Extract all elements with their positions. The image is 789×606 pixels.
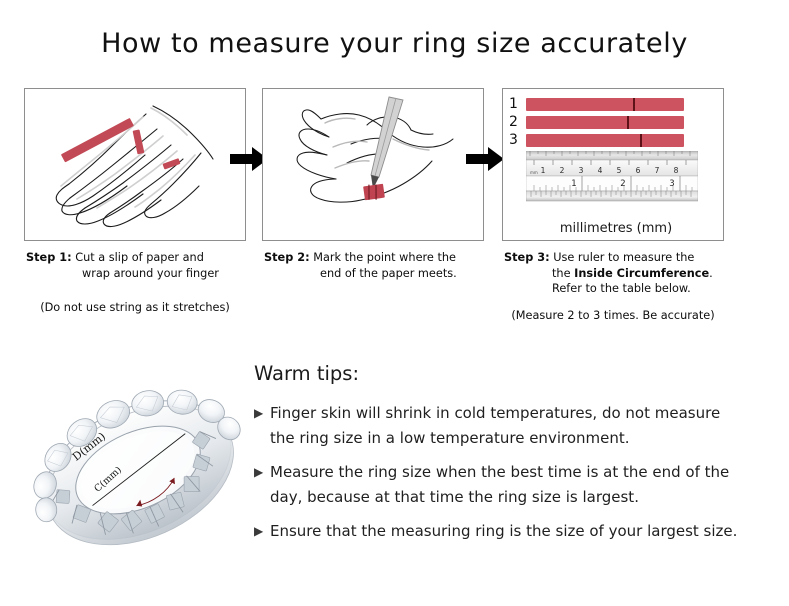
svg-text:6: 6 <box>636 166 641 175</box>
hand-marking-with-pencil-illustration <box>263 89 484 241</box>
step-1-column: Step 1: Cut a slip of paper and wrap aro… <box>24 88 246 315</box>
paper-strip-1 <box>526 98 684 111</box>
step-3-caption: Step 3: Use ruler to measure the the Ins… <box>502 250 724 297</box>
diamond-ring-illustration <box>26 356 251 584</box>
strip-number-3: 3 <box>509 133 526 147</box>
warm-tips-section: Warm tips: ▶ Finger skin will shrink in … <box>254 362 774 553</box>
tip-text: Measure the ring size when the best time… <box>270 460 740 510</box>
svg-text:3: 3 <box>669 179 674 189</box>
step-3-note: (Measure 2 to 3 times. Be accurate) <box>502 308 724 323</box>
svg-text:4: 4 <box>598 166 603 175</box>
tip-item: ▶ Measure the ring size when the best ti… <box>254 460 774 510</box>
strip-number-2: 2 <box>509 115 526 129</box>
strip-mark-3 <box>640 134 642 147</box>
step-1-label: Step 1: <box>26 251 72 264</box>
ruler: 123 456 78 mm 123 <box>526 151 713 211</box>
ruler-unit-label: millimetres (mm) <box>519 221 713 236</box>
step-3-caption-line2-tail: . <box>709 267 713 280</box>
measurement-strip-row: 3 <box>509 133 713 147</box>
step-3-panel: 1 2 3 <box>502 88 724 241</box>
red-paper-strip-on-finger <box>363 184 385 201</box>
bullet-triangle-icon: ▶ <box>254 460 270 485</box>
ruler-graphic: 123 456 78 mm 123 <box>526 151 698 207</box>
bullet-triangle-icon: ▶ <box>254 519 270 544</box>
step-1-caption-line2: wrap around your finger <box>24 266 246 282</box>
step-2-caption-line1: Mark the point where the <box>313 251 456 264</box>
svg-text:1: 1 <box>541 166 546 175</box>
step-1-note: (Do not use string as it stretches) <box>24 300 246 315</box>
step-3-caption-line2: the <box>552 267 574 280</box>
paper-strip-3 <box>526 134 684 147</box>
svg-text:3: 3 <box>579 166 584 175</box>
paper-strip-2 <box>526 116 684 129</box>
step-2-panel <box>262 88 484 241</box>
svg-text:2: 2 <box>560 166 565 175</box>
steps-row: Step 1: Cut a slip of paper and wrap aro… <box>0 88 789 338</box>
step-3-caption-line1: Use ruler to measure the <box>553 251 694 264</box>
step-1-panel <box>24 88 246 241</box>
tip-text: Ensure that the measuring ring is the si… <box>270 519 737 544</box>
step-1-caption-line1: Cut a slip of paper and <box>75 251 204 264</box>
measurement-strip-row: 2 <box>509 115 713 129</box>
flow-arrow-2 <box>464 144 506 178</box>
step-2-caption-line2: end of the paper meets. <box>262 266 484 282</box>
pencil-icon <box>371 97 403 189</box>
strip-mark-2 <box>627 116 629 129</box>
ring-diagram <box>26 356 251 584</box>
step-3-caption-line3: Refer to the table below. <box>502 281 724 297</box>
strip-mark-1 <box>633 98 635 111</box>
svg-text:7: 7 <box>655 166 660 175</box>
inside-circumference-emphasis: Inside Circumference <box>574 267 709 280</box>
svg-text:2: 2 <box>620 179 625 189</box>
arrow-right-icon <box>464 144 506 174</box>
page-title: How to measure your ring size accurately <box>0 28 789 59</box>
step-2-column: Step 2: Mark the point where the end of … <box>262 88 484 281</box>
svg-text:5: 5 <box>617 166 622 175</box>
step-2-label: Step 2: <box>264 251 310 264</box>
tip-text: Finger skin will shrink in cold temperat… <box>270 401 740 451</box>
strip-number-1: 1 <box>509 97 526 111</box>
svg-text:8: 8 <box>674 166 679 175</box>
step-1-caption: Step 1: Cut a slip of paper and wrap aro… <box>24 250 246 281</box>
step-3-label: Step 3: <box>504 251 550 264</box>
tip-item: ▶ Ensure that the measuring ring is the … <box>254 519 774 544</box>
red-paper-strip-wrapped <box>133 129 145 154</box>
step-2-caption: Step 2: Mark the point where the end of … <box>262 250 484 281</box>
red-paper-strip-small <box>162 158 180 169</box>
svg-text:mm: mm <box>530 170 538 175</box>
tip-item: ▶ Finger skin will shrink in cold temper… <box>254 401 774 451</box>
bullet-triangle-icon: ▶ <box>254 401 270 426</box>
hand-with-paper-strip-illustration <box>25 89 246 241</box>
measurement-strip-row: 1 <box>509 97 713 111</box>
warm-tips-heading: Warm tips: <box>254 362 774 385</box>
step-3-column: 1 2 3 <box>502 88 724 323</box>
